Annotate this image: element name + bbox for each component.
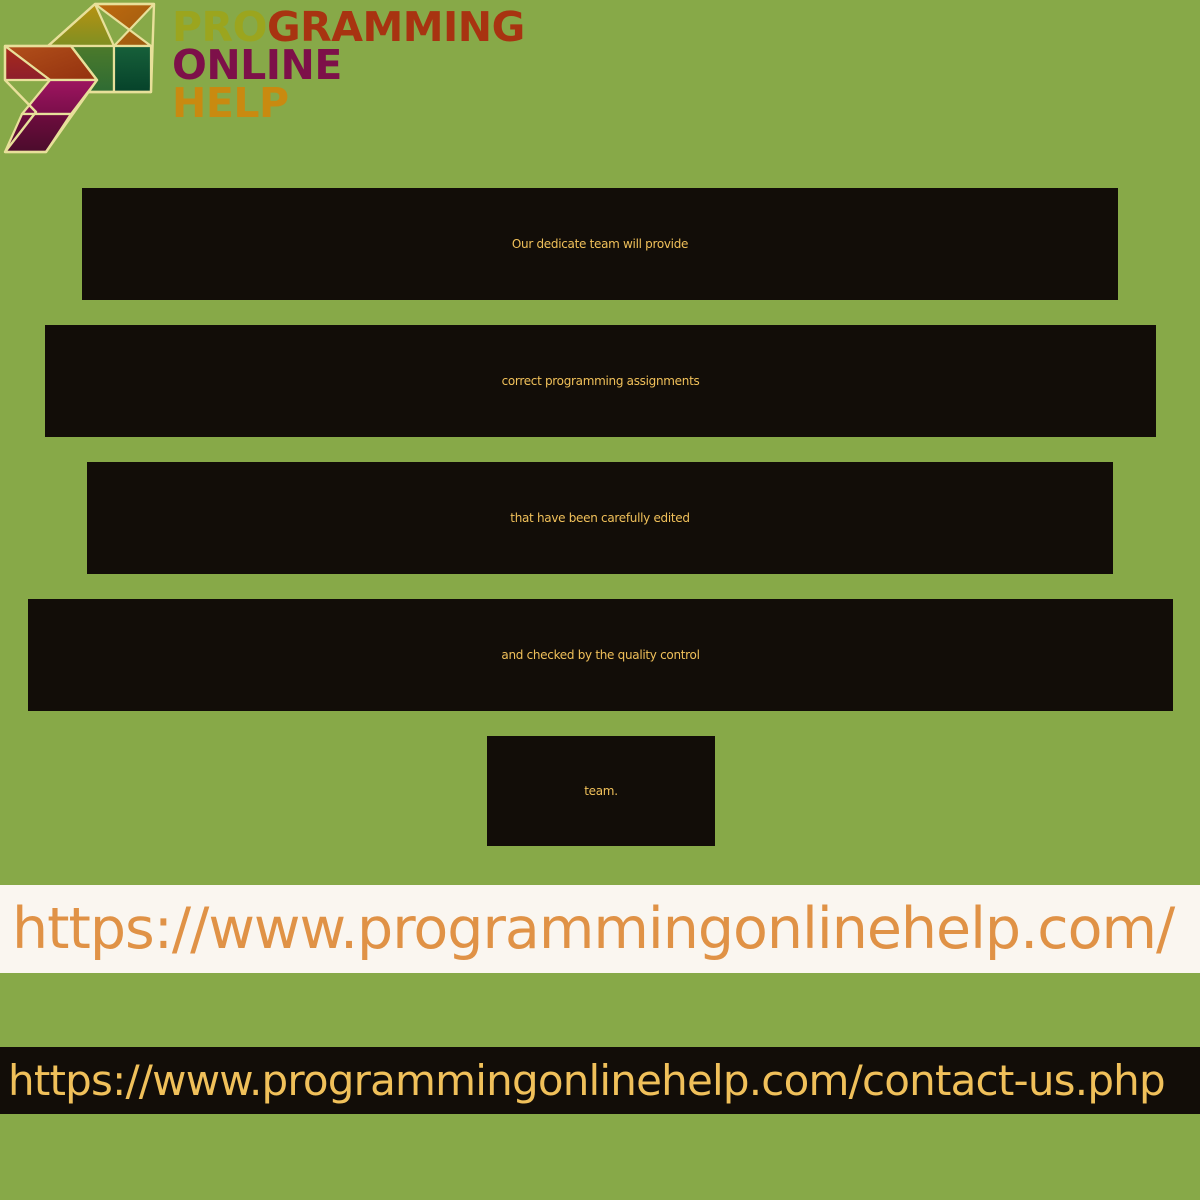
wordmark-help: HELP bbox=[172, 84, 472, 122]
brand-wordmark: PROGRAMMING ONLINE HELP bbox=[172, 8, 472, 148]
chevron-logo-icon bbox=[2, 2, 162, 158]
primary-url-bar[interactable]: https://www.programmingonlinehelp.com/ bbox=[0, 885, 1200, 973]
quote-line: and checked by the quality control bbox=[28, 599, 1173, 711]
primary-url-text[interactable]: https://www.programmingonlinehelp.com/ bbox=[0, 896, 1174, 962]
contact-url-text[interactable]: https://www.programmingonlinehelp.com/co… bbox=[0, 1056, 1165, 1105]
chevron-logo-svg bbox=[2, 2, 162, 158]
quote-line: Our dedicate team will provide bbox=[82, 188, 1118, 300]
quote-line: correct programming assignments bbox=[45, 325, 1156, 437]
quote-line: team. bbox=[487, 736, 715, 846]
quote-line: that have been carefully edited bbox=[87, 462, 1113, 574]
brand-logo[interactable]: PROGRAMMING ONLINE HELP bbox=[0, 0, 480, 160]
promo-poster: PROGRAMMING ONLINE HELP Our dedicate tea… bbox=[0, 0, 1200, 1200]
contact-url-bar[interactable]: https://www.programmingonlinehelp.com/co… bbox=[0, 1047, 1200, 1114]
